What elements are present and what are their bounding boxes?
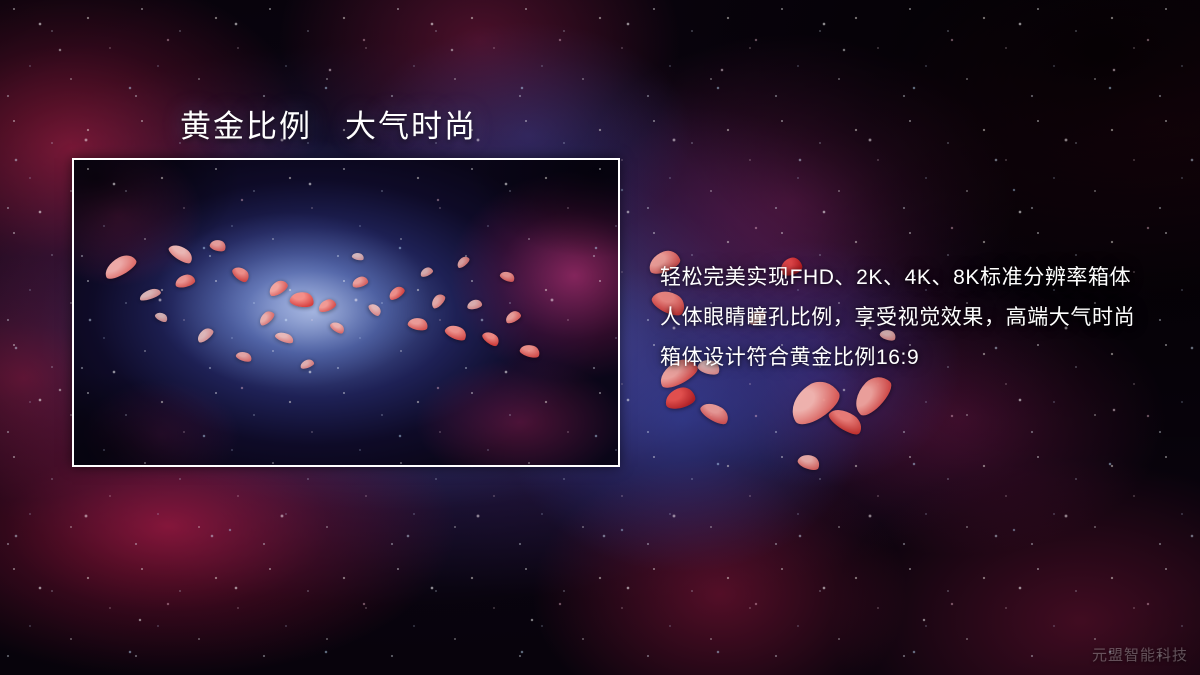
slide-canvas: 黄金比例 大气时尚 轻松完美实现FHD、2K、4K、8K标准分辨率箱体 人体眼睛… [0, 0, 1200, 675]
body-line-1: 轻松完美实现FHD、2K、4K、8K标准分辨率箱体 [660, 258, 1180, 298]
body-line-2: 人体眼睛瞳孔比例，享受视觉效果，高端大气时尚 [660, 298, 1180, 338]
petal-outside-10 [796, 451, 822, 472]
page-title: 黄金比例 大气时尚 [180, 101, 477, 146]
body-text-block: 轻松完美实现FHD、2K、4K、8K标准分辨率箱体 人体眼睛瞳孔比例，享受视觉效… [660, 258, 1180, 378]
petal-outside-4 [663, 385, 697, 411]
body-line-3: 箱体设计符合黄金比例16:9 [660, 338, 1180, 378]
panel-starfield-bright [74, 160, 618, 465]
petal-outside-5 [698, 398, 732, 427]
petal-outside-8 [826, 403, 866, 438]
watermark-label: 元盟智能科技 [1092, 644, 1188, 665]
petal-outside-7 [783, 374, 845, 430]
image-panel-frame [72, 158, 620, 467]
image-panel-content [74, 160, 618, 465]
